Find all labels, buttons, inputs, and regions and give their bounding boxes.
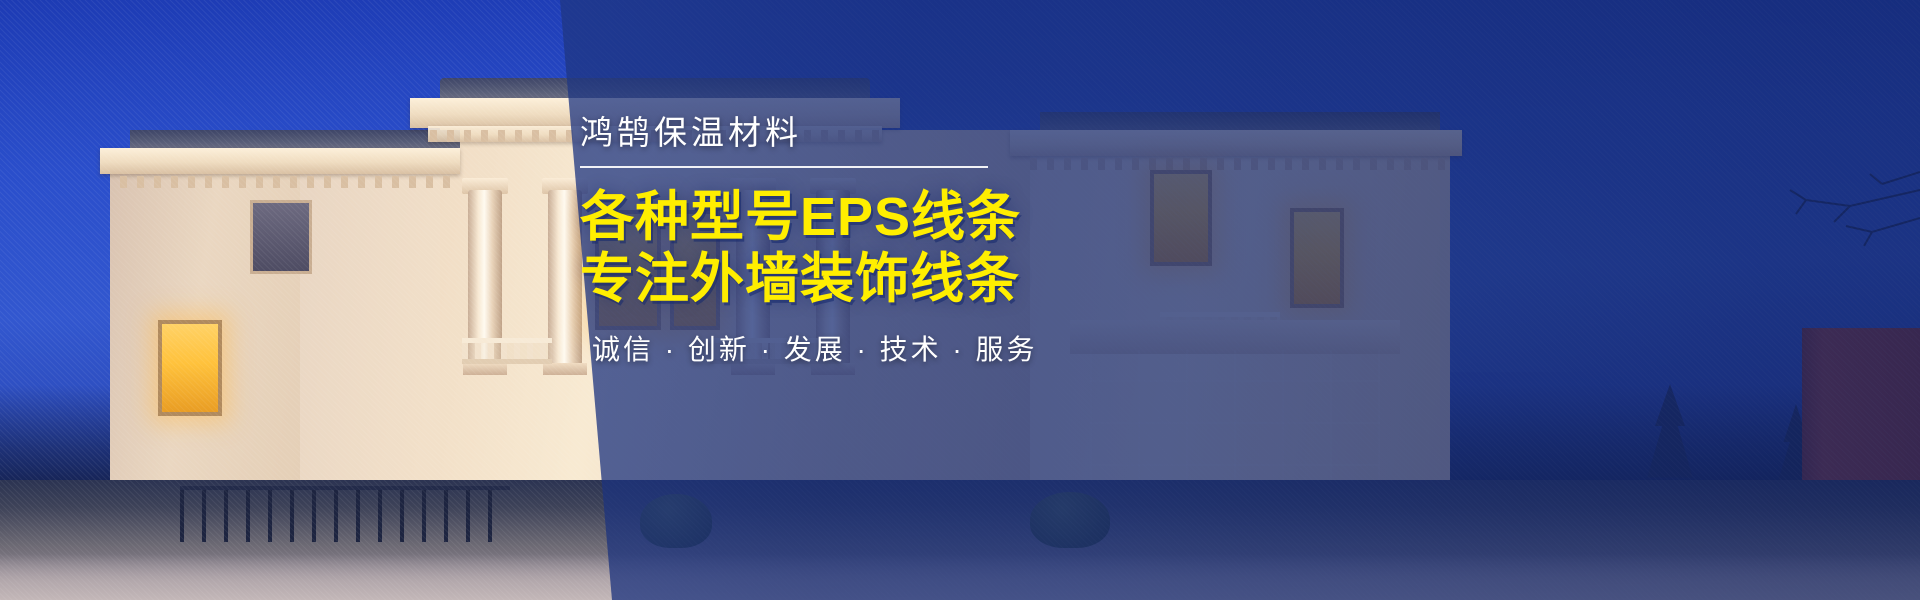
cornice-left <box>100 148 460 174</box>
tagline: 诚信 · 创新 · 发展 · 技术 · 服务 <box>592 328 1038 368</box>
iron-railing <box>180 486 510 542</box>
headline: 各种型号EPS线条 专注外墙装饰线条 <box>580 186 1100 310</box>
divider-rule <box>580 166 988 168</box>
dentil-band-left <box>120 176 450 188</box>
banner-copy: 鸿鹄保温材料 各种型号EPS线条 专注外墙装饰线条 诚信 · 创新 · 发展 ·… <box>580 0 1100 600</box>
headline-line-1: 各种型号EPS线条 <box>580 186 1100 248</box>
hero-banner: 鸿鹄保温材料 各种型号EPS线条 专注外墙装饰线条 诚信 · 创新 · 发展 ·… <box>0 0 1920 600</box>
brand-name: 鸿鹄保温材料 <box>580 106 802 154</box>
portico-column <box>548 190 582 365</box>
roof-left <box>130 130 460 150</box>
window-frame <box>158 320 222 416</box>
column-base <box>463 363 507 375</box>
headline-line-2: 专注外墙装饰线条 <box>580 248 1100 310</box>
dark-window <box>250 200 312 274</box>
balustrade <box>462 338 552 364</box>
